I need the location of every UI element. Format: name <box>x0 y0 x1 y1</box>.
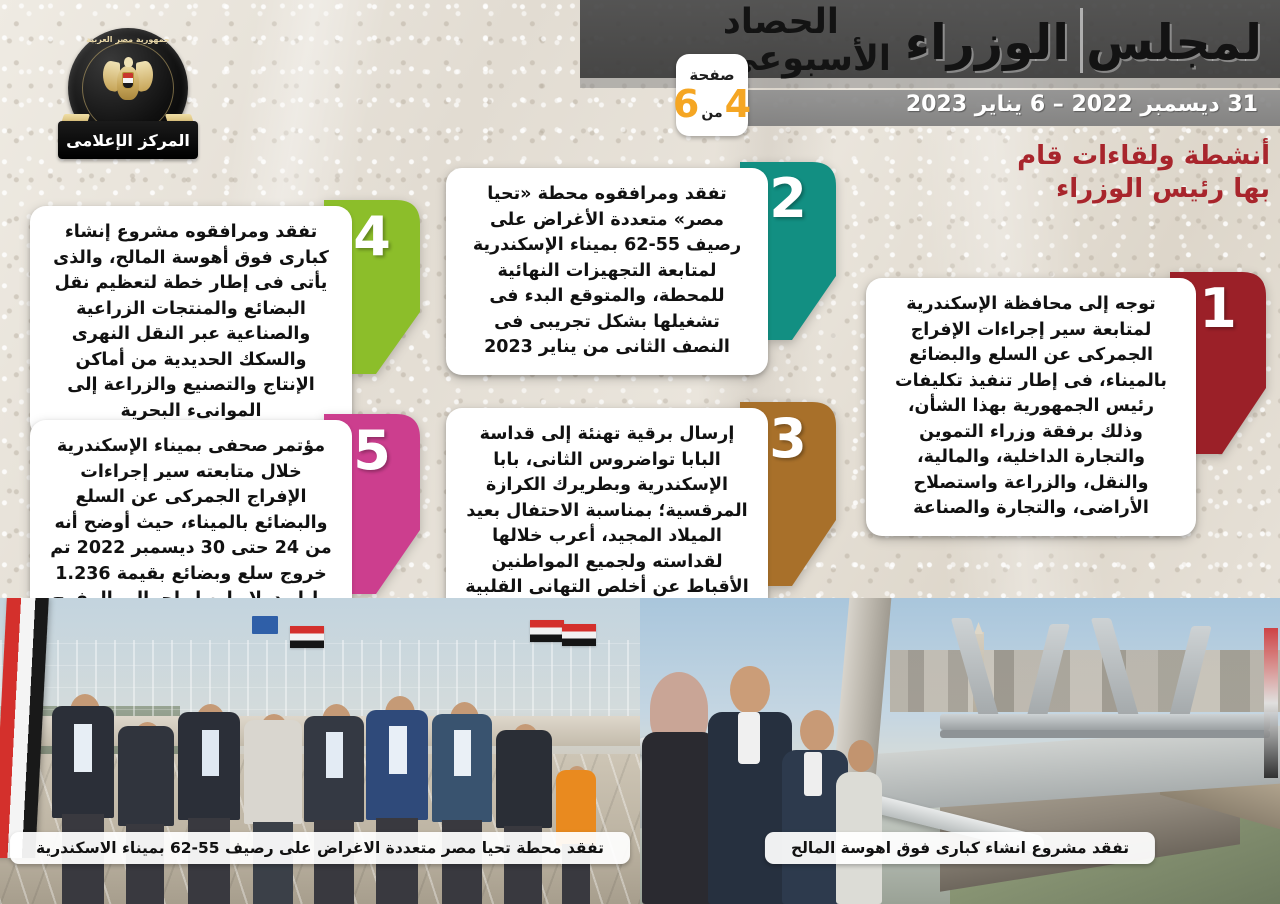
logo-arc-top-text: جمهورية مصر العربية <box>68 35 188 44</box>
photo-right-person <box>244 706 302 904</box>
page-badge-of: من <box>701 105 722 121</box>
card-1-number: 1 <box>1199 282 1237 336</box>
photo-right-person <box>556 754 596 904</box>
photo-right-person <box>432 698 492 904</box>
card-2-number: 2 <box>769 172 807 226</box>
bridge-inspection-photo: تفقد مشروع انشاء كبارى فوق اهوسة المالح <box>640 598 1280 904</box>
photo-left-steel-truss <box>940 618 1270 748</box>
card-2-body: تفقد ومرافقوه محطة «تحيا مصر» متعددة الأ… <box>446 168 768 375</box>
photo-right-company-flag <box>252 616 278 634</box>
card-4-number: 4 <box>353 210 391 264</box>
logo-banner: المركز الإعلامى <box>58 121 198 159</box>
card-3: 3 إرسال برقية تهنئة إلى قداسة البابا توا… <box>446 398 836 586</box>
card-3-number: 3 <box>769 412 807 466</box>
photo-right-egypt-flag <box>562 624 596 646</box>
photo-left-person <box>706 666 792 904</box>
infographic-page: لمجلس الوزراء الحصاد الأسبوعى 31 ديسمبر … <box>0 0 1280 904</box>
photo-right-person <box>178 698 240 904</box>
card-1: 1 توجه إلى محافظة الإسكندرية لمتابعة سير… <box>866 268 1266 454</box>
card-2-text: تفقد ومرافقوه محطة «تحيا مصر» متعددة الأ… <box>464 182 750 361</box>
photo-right-caption: تفقد محطة تحيا مصر متعددة الاغراض على رص… <box>10 832 630 864</box>
page-badge: صفحة 4 من 6 <box>676 54 748 136</box>
title-kicker-line1: الحصاد <box>723 4 839 41</box>
section-subtitle: أنشطة ولقاءات قام بها رئيس الوزراء <box>880 140 1270 207</box>
page-title: لمجلس الوزراء <box>905 4 1262 71</box>
egypt-flag-shield-icon <box>122 72 134 89</box>
title-divider <box>1080 8 1083 73</box>
photo-left-caption: تفقد مشروع انشاء كبارى فوق اهوسة المالح <box>765 832 1155 864</box>
page-badge-caption: صفحة <box>689 68 734 83</box>
photo-right-person <box>52 690 114 904</box>
date-range: 31 ديسمبر 2022 – 6 يناير 2023 <box>906 92 1258 117</box>
card-5-number: 5 <box>353 424 391 478</box>
card-1-text: توجه إلى محافظة الإسكندرية لمتابعة سير إ… <box>884 292 1178 522</box>
card-5: 5 مؤتمر صحفى بميناء الإسكندرية خلال متاب… <box>30 410 420 594</box>
card-2: 2 تفقد ومرافقوه محطة «تحيا مصر» متعددة ا… <box>446 158 836 340</box>
photo-right-person <box>496 714 552 904</box>
title-block: لمجلس الوزراء الحصاد الأسبوعى <box>723 4 1262 78</box>
section-subtitle-line2: بها رئيس الوزراء <box>880 173 1270 206</box>
photo-right-delegation <box>0 674 640 904</box>
logo-banner-text: المركز الإعلامى <box>66 131 190 150</box>
title-kicker-group: الحصاد الأسبوعى <box>723 4 891 78</box>
port-walk-photo: تفقد محطة تحيا مصر متعددة الاغراض على رص… <box>0 598 640 904</box>
card-1-body: توجه إلى محافظة الإسكندرية لمتابعة سير إ… <box>866 278 1196 536</box>
section-subtitle-line1: أنشطة ولقاءات قام <box>1017 141 1270 171</box>
title-kicker-line2: الأسبوعى <box>723 41 891 78</box>
photo-right-egypt-flag <box>290 626 324 648</box>
page-badge-total: 6 <box>673 85 699 123</box>
photo-right-egypt-flag <box>530 620 564 642</box>
photo-left-flag-edge <box>1264 628 1278 778</box>
page-badge-numbers: 4 من 6 <box>673 85 751 123</box>
eagle-of-saladin-icon <box>104 56 152 116</box>
card-4-body: تفقد ومرافقوه مشروع إنشاء كبارى فوق أهوس… <box>30 206 352 438</box>
card-4: 4 تفقد ومرافقوه مشروع إنشاء كبارى فوق أه… <box>30 196 420 374</box>
card-4-text: تفقد ومرافقوه مشروع إنشاء كبارى فوق أهوس… <box>48 220 334 424</box>
photo-right-person <box>304 700 364 904</box>
page-badge-current: 4 <box>725 85 751 123</box>
photo-right-person <box>366 694 428 904</box>
eagle-head <box>124 57 133 67</box>
photo-left-person <box>642 654 714 904</box>
photo-right-person <box>118 712 174 904</box>
photo-left-person <box>836 734 882 904</box>
photo-strip: تفقد مشروع انشاء كبارى فوق اهوسة المالح <box>0 598 1280 904</box>
cabinet-media-center-logo: جمهورية مصر العربية رئاسة مجلس الوزراء ا… <box>52 26 204 176</box>
